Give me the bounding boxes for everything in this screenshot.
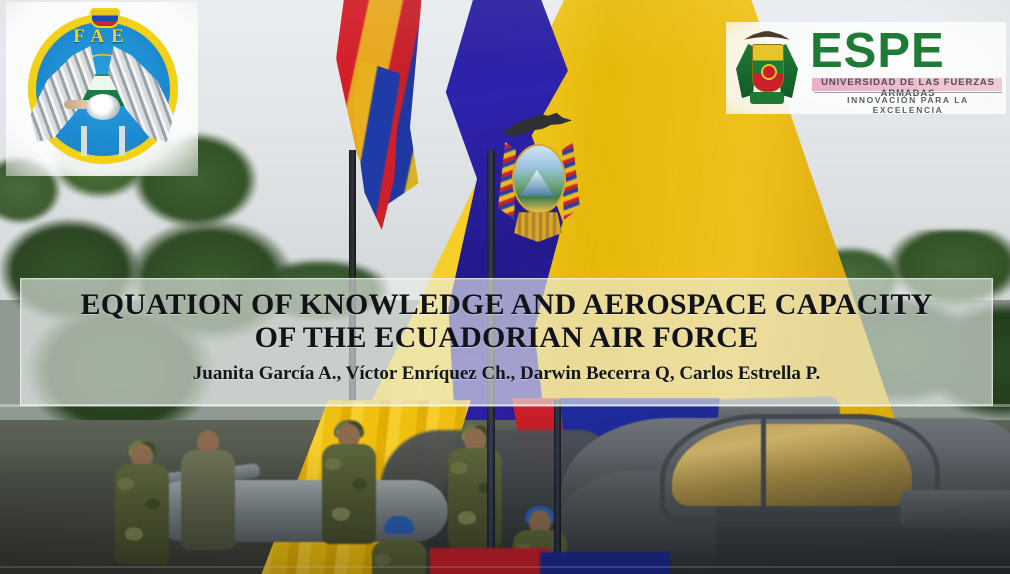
aircraft-wing [900,490,1010,530]
title-overlay-band: EQUATION OF KNOWLEDGE AND AEROSPACE CAPA… [20,278,993,406]
fae-talons-icon [74,126,132,156]
person-soldier-1 [112,444,172,574]
shield-emblem-dot [761,64,777,80]
flag-pole-right [554,400,561,574]
page-title-line-1: EQUATION OF KNOWLEDGE AND AEROSPACE CAPA… [21,288,992,321]
aircraft-canopy-frame [660,414,940,522]
person-soldier-5 [372,520,426,574]
person-uniform [372,540,426,574]
ecuador-shield-icon [734,28,800,108]
person-uniform [181,450,235,550]
coat-of-arms-base [514,212,562,242]
flag-stripe-red-bottom [430,548,550,574]
shield-base [750,92,784,104]
blue-beret-icon [384,516,414,534]
page-title-line-2: OF THE ECUADORIAN AIR FORCE [21,321,992,354]
espe-subtitle-secondary: INNOVACIÓN PARA LA EXCELENCIA [814,95,1002,115]
fae-center-boss [86,94,120,120]
fae-acronym: FAE [6,26,198,48]
person-soldier-2 [318,424,380,574]
espe-wordmark: ESPE [810,26,1006,76]
fae-crest-icon [90,8,120,28]
espe-logo: ESPE UNIVERSIDAD DE LAS FUERZAS ARMADAS … [726,22,1006,114]
authors-line: Juanita García A., Víctor Enríquez Ch., … [21,361,992,387]
ecuador-coat-of-arms [496,108,582,248]
espe-divider [814,92,1002,93]
title-slide: FAE ESPE UNIVERSIDAD DE LAS FUERZAS ARMA… [0,0,1010,574]
person-uniform [322,444,376,544]
person-officer [180,430,236,574]
fae-logo: FAE [6,2,198,176]
person-uniform [115,464,169,564]
flag-stripe-blue-bottom [540,552,670,574]
